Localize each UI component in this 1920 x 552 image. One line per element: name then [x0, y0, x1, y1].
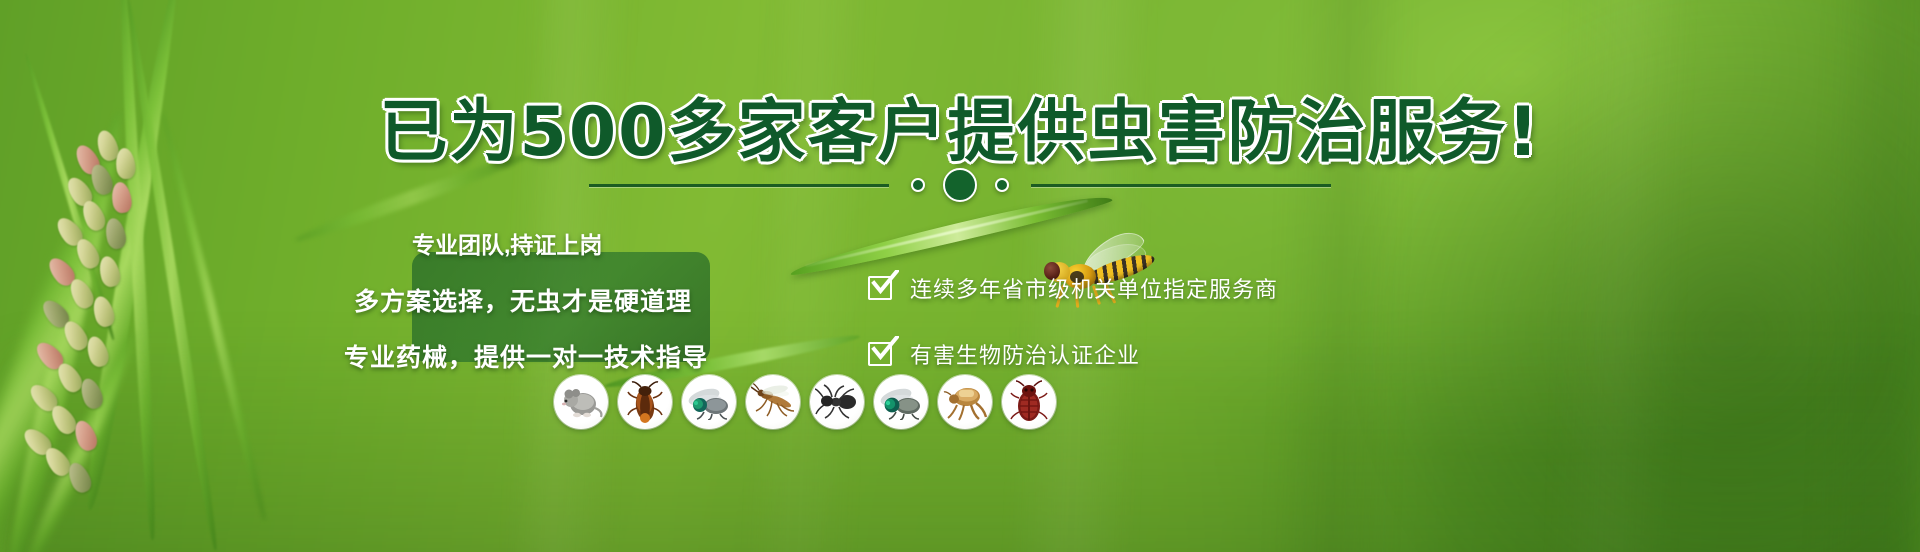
pest-control-hero-banner: 已为500多家客户提供虫害防治服务! 专业团队,持证上岗 多方案选择，无虫才是硬…	[0, 0, 1920, 552]
dot-large-center	[943, 168, 977, 202]
checklist-label: 有害生物防治认证企业	[910, 338, 1140, 370]
checklist-label: 连续多年省市级机关单位指定服务商	[910, 272, 1278, 304]
decorative-divider	[0, 163, 1920, 207]
blowfly-icon[interactable]	[874, 375, 928, 429]
bedbug-icon[interactable]	[1002, 375, 1056, 429]
housefly-icon[interactable]	[682, 375, 736, 429]
cockroach-icon[interactable]	[618, 375, 672, 429]
divider-line-right	[1031, 184, 1331, 187]
divider-line-left	[589, 184, 889, 187]
dot-small-right	[995, 178, 1009, 192]
checklist-item: 有害生物防治认证企业	[868, 338, 1388, 370]
mosquito-icon[interactable]	[746, 375, 800, 429]
rodent-mouse-icon[interactable]	[554, 375, 608, 429]
checkbox-checked-icon	[868, 340, 896, 368]
checklist-item: 连续多年省市级机关单位指定服务商	[868, 272, 1388, 304]
ant-icon[interactable]	[810, 375, 864, 429]
checkbox-checked-icon	[868, 274, 896, 302]
pest-types-row	[554, 375, 1074, 429]
divider-dots	[911, 168, 1009, 202]
dot-small-left	[911, 178, 925, 192]
banner-headline: 已为500多家客户提供虫害防治服务!	[0, 76, 1920, 175]
flea-icon[interactable]	[938, 375, 992, 429]
feature-line-1: 专业团队,持证上岗	[412, 226, 1272, 260]
